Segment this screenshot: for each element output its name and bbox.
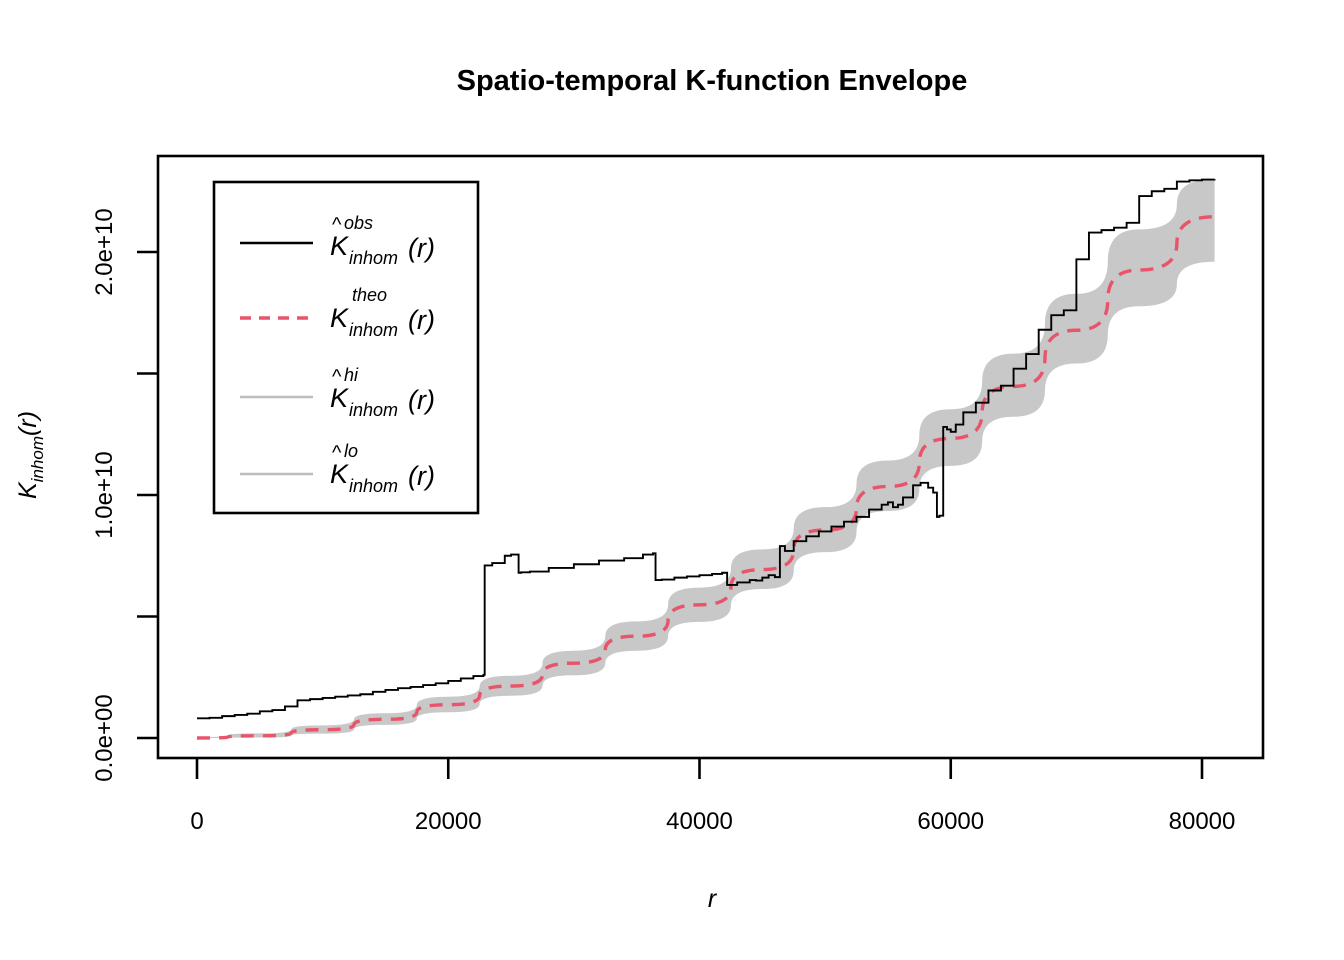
legend-superscript: obs bbox=[344, 213, 373, 233]
x-axis-tick-label: 40000 bbox=[666, 808, 733, 835]
legend-argument: (r) bbox=[408, 305, 435, 335]
legend-base-symbol: K bbox=[330, 303, 349, 333]
chart-canvas: Spatio-temporal K-function Envelope 0200… bbox=[0, 0, 1344, 960]
x-axis-tick-label: 80000 bbox=[1169, 808, 1236, 835]
legend-argument: (r) bbox=[408, 461, 435, 491]
y-axis-title-subscript: inhom bbox=[28, 436, 47, 482]
legend-subscript: inhom bbox=[349, 320, 398, 340]
legend-argument: (r) bbox=[408, 233, 435, 263]
legend-base-symbol: K bbox=[330, 383, 349, 413]
y-axis-tick-label: 2.0e+10 bbox=[91, 208, 118, 295]
legend-subscript: inhom bbox=[349, 400, 398, 420]
legend-argument: (r) bbox=[408, 385, 435, 415]
legend-subscript: inhom bbox=[349, 476, 398, 496]
legend-superscript: lo bbox=[344, 441, 358, 461]
legend-superscript: theo bbox=[352, 285, 387, 305]
legend-subscript: inhom bbox=[349, 248, 398, 268]
legend-superscript: hi bbox=[344, 365, 359, 385]
y-axis-tick-label: 0.0e+00 bbox=[91, 694, 118, 781]
legend-base-symbol: K bbox=[330, 231, 349, 261]
y-axis-title-base: K bbox=[14, 481, 42, 499]
y-axis-title-arg: (r) bbox=[14, 411, 42, 436]
x-axis-tick-label: 20000 bbox=[415, 808, 482, 835]
legend-base-symbol: K bbox=[330, 459, 349, 489]
y-axis-tick-label: 1.0e+10 bbox=[91, 451, 118, 538]
k-function-envelope-plot: Spatio-temporal K-function Envelope 0200… bbox=[0, 0, 1344, 960]
x-axis-tick-label: 60000 bbox=[917, 808, 984, 835]
page-title: Spatio-temporal K-function Envelope bbox=[457, 65, 968, 97]
legend[interactable]: ^obsKinhom(r)theoKinhom(r)^hiKinhom(r)^l… bbox=[214, 182, 478, 513]
x-axis-tick-label: 0 bbox=[190, 808, 203, 835]
